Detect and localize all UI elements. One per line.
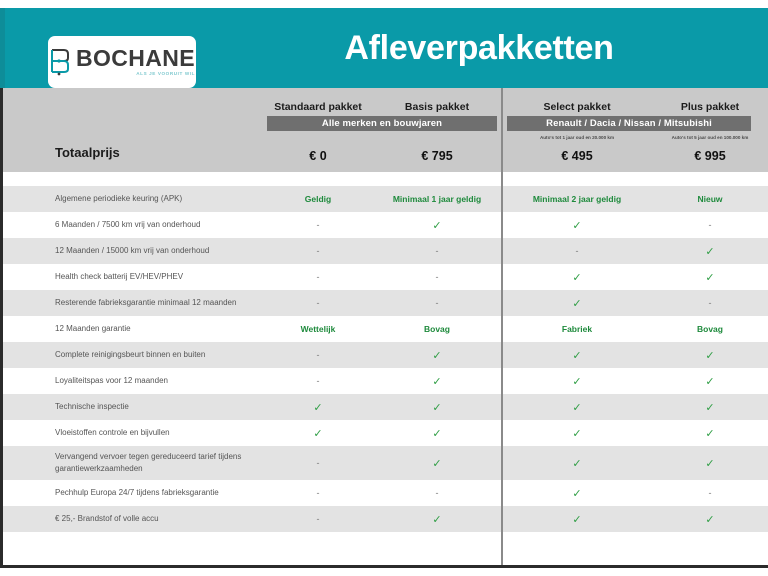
cell-c3-txt: Bovag — [651, 324, 768, 334]
row-label: 12 Maanden garantie — [55, 323, 263, 335]
pricing-table: Totaalprijs Standaard pakket Basis pakke… — [0, 88, 768, 568]
cell-c3-check: ✓ — [651, 427, 768, 440]
table-row: Pechhulp Europa 24/7 tijdens fabrieksgar… — [3, 480, 768, 506]
logo-wordmark: BOCHANE — [76, 47, 195, 70]
table-header: Totaalprijs Standaard pakket Basis pakke… — [3, 88, 768, 172]
row-label: 6 Maanden / 7500 km vrij van onderhoud — [55, 219, 263, 231]
table-row: 6 Maanden / 7500 km vrij van onderhoud-✓… — [3, 212, 768, 238]
cell-c0-dash: - — [263, 514, 373, 524]
price-plus: € 995 — [651, 147, 768, 165]
cell-c0-dash: - — [263, 246, 373, 256]
cell-c1-dash: - — [373, 246, 501, 256]
table-bottom-edge — [3, 565, 768, 568]
cell-c1-check: ✓ — [373, 457, 501, 470]
cell-c2-check: ✓ — [503, 297, 651, 310]
table-row: Resterende fabrieksgarantie minimaal 12 … — [3, 290, 768, 316]
cell-c0-txt: Geldig — [263, 194, 373, 204]
cell-c2-check: ✓ — [503, 457, 651, 470]
cell-c0-dash: - — [263, 458, 373, 468]
header-banner: BOCHANE ALS JE VOORUIT WIL Afleverpakket… — [0, 8, 768, 88]
column-header-plus: Plus pakket — [651, 101, 768, 113]
cell-c1-dash: - — [373, 488, 501, 498]
cell-c1-check: ✓ — [373, 349, 501, 362]
price-select: € 495 — [503, 147, 651, 165]
table-row: Vervangend vervoer tegen gereduceerd tar… — [3, 446, 768, 480]
cell-c0-dash: - — [263, 298, 373, 308]
cell-c3-check: ✓ — [651, 349, 768, 362]
cell-c2-check: ✓ — [503, 271, 651, 284]
header-separator-gap — [3, 172, 768, 186]
cell-c1-txt: Minimaal 1 jaar geldig — [373, 194, 501, 204]
cell-c1-check: ✓ — [373, 401, 501, 414]
group-banner-renault-dacia-nissan-mitsubishi: Renault / Dacia / Nissan / Mitsubishi — [507, 116, 751, 131]
group-sub-select: Auto's tot 1 jaar oud en 20.000 km — [503, 132, 651, 142]
table-row: € 25,- Brandstof of volle accu-✓✓✓ — [3, 506, 768, 532]
cell-c1-dash: - — [373, 298, 501, 308]
cell-c2-dash: - — [503, 246, 651, 256]
cell-c1-check: ✓ — [373, 219, 501, 232]
table-row: Complete reinigingsbeurt binnen en buite… — [3, 342, 768, 368]
row-label: Technische inspectie — [55, 401, 263, 413]
price-basis: € 795 — [373, 147, 501, 165]
cell-c2-check: ✓ — [503, 487, 651, 500]
cell-c2-txt: Minimaal 2 jaar geldig — [503, 194, 651, 204]
column-header-basis: Basis pakket — [373, 101, 501, 113]
cell-c0-dash: - — [263, 376, 373, 386]
feature-rows: Algemene periodieke keuring (APK)GeldigM… — [3, 186, 768, 532]
cell-c3-dash: - — [651, 488, 768, 498]
column-header-standaard: Standaard pakket — [263, 101, 373, 113]
row-label: Complete reinigingsbeurt binnen en buite… — [55, 349, 263, 361]
cell-c3-check: ✓ — [651, 457, 768, 470]
page-root: BOCHANE ALS JE VOORUIT WIL Afleverpakket… — [0, 0, 768, 576]
cell-c3-check: ✓ — [651, 375, 768, 388]
cell-c0-check: ✓ — [263, 427, 373, 440]
table-row: Vloeistoffen controle en bijvullen✓✓✓✓ — [3, 420, 768, 446]
table-row: Loyaliteitspas voor 12 maanden-✓✓✓ — [3, 368, 768, 394]
column-header-select: Select pakket — [503, 101, 651, 113]
cell-c3-dash: - — [651, 220, 768, 230]
cell-c2-txt: Fabriek — [503, 324, 651, 334]
row-label: Resterende fabrieksgarantie minimaal 12 … — [55, 297, 263, 309]
row-label: 12 Maanden / 15000 km vrij van onderhoud — [55, 245, 263, 257]
row-label: Algemene periodieke keuring (APK) — [55, 193, 263, 205]
row-label: Vloeistoffen controle en bijvullen — [55, 427, 263, 439]
banner-left-edge — [0, 8, 5, 88]
cell-c1-txt: Bovag — [373, 324, 501, 334]
cell-c2-check: ✓ — [503, 513, 651, 526]
cell-c0-dash: - — [263, 220, 373, 230]
table-row: Technische inspectie✓✓✓✓ — [3, 394, 768, 420]
cell-c3-check: ✓ — [651, 245, 768, 258]
cell-c1-dash: - — [373, 272, 501, 282]
brand-logo[interactable]: BOCHANE ALS JE VOORUIT WIL — [48, 36, 196, 88]
group-sub-plus: Auto's tot 5 jaar oud en 100.000 km — [651, 132, 768, 142]
row-label: Pechhulp Europa 24/7 tijdens fabrieksgar… — [55, 487, 263, 499]
logo-tagline: ALS JE VOORUIT WIL — [136, 72, 195, 77]
row-label: Vervangend vervoer tegen gereduceerd tar… — [55, 451, 263, 474]
row-label: Health check batterij EV/HEV/PHEV — [55, 271, 263, 283]
cell-c3-check: ✓ — [651, 513, 768, 526]
price-standaard: € 0 — [263, 147, 373, 165]
cell-c2-check: ✓ — [503, 349, 651, 362]
bochane-mark-icon — [49, 48, 71, 76]
cell-c2-check: ✓ — [503, 375, 651, 388]
cell-c1-check: ✓ — [373, 427, 501, 440]
cell-c1-check: ✓ — [373, 513, 501, 526]
cell-c2-check: ✓ — [503, 219, 651, 232]
cell-c2-check: ✓ — [503, 401, 651, 414]
table-footer-space — [3, 532, 768, 554]
table-row: Algemene periodieke keuring (APK)GeldigM… — [3, 186, 768, 212]
cell-c0-txt: Wettelijk — [263, 324, 373, 334]
row-label: € 25,- Brandstof of volle accu — [55, 513, 263, 525]
cell-c0-dash: - — [263, 488, 373, 498]
cell-c2-check: ✓ — [503, 427, 651, 440]
table-row: 12 Maanden / 15000 km vrij van onderhoud… — [3, 238, 768, 264]
cell-c0-dash: - — [263, 350, 373, 360]
cell-c0-dash: - — [263, 272, 373, 282]
total-price-label: Totaalprijs — [55, 145, 120, 160]
table-row: 12 Maanden garantieWettelijkBovagFabriek… — [3, 316, 768, 342]
column-group-divider — [501, 88, 503, 568]
cell-c3-txt: Nieuw — [651, 194, 768, 204]
cell-c3-check: ✓ — [651, 401, 768, 414]
table-row: Health check batterij EV/HEV/PHEV--✓✓ — [3, 264, 768, 290]
cell-c3-check: ✓ — [651, 271, 768, 284]
cell-c1-check: ✓ — [373, 375, 501, 388]
group-banner-alle-merken: Alle merken en bouwjaren — [267, 116, 497, 131]
cell-c3-dash: - — [651, 298, 768, 308]
row-label: Loyaliteitspas voor 12 maanden — [55, 375, 263, 387]
cell-c0-check: ✓ — [263, 401, 373, 414]
